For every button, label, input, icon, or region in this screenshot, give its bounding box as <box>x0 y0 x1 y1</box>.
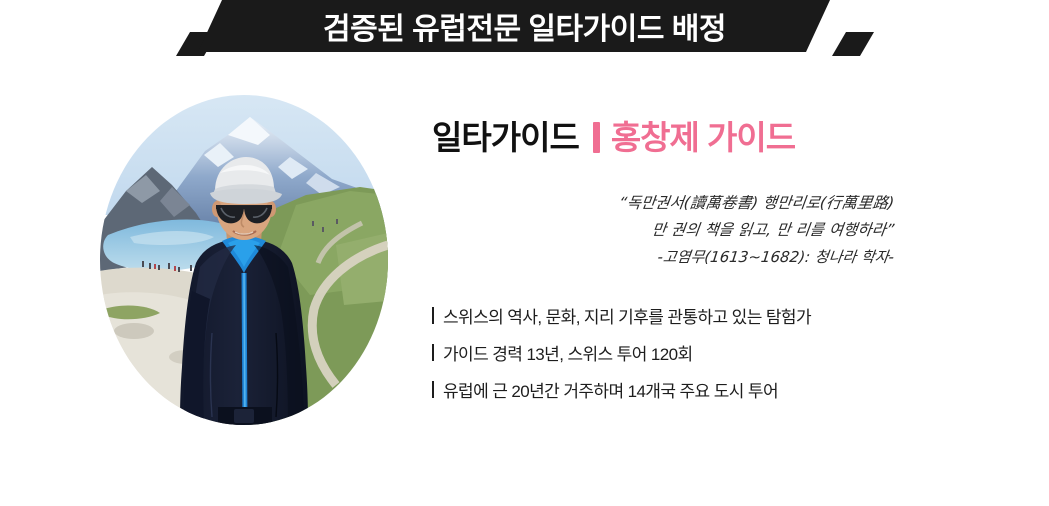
quote-line-2: 만 권의 책을 읽고, 만 리를 여행하라” <box>430 217 895 244</box>
headline-divider-bar <box>593 122 600 153</box>
credential-text: 스위스의 역사, 문화, 지리 기후를 관통하고 있는 탐험가 <box>443 303 811 328</box>
bullet-bar-icon <box>432 381 434 398</box>
guide-headline: 일타가이드 홍창제 가이드 <box>432 118 902 164</box>
list-item: 가이드 경력 13년, 스위스 투어 120회 <box>432 334 902 371</box>
guide-photo-illustration <box>100 95 388 425</box>
credential-text: 유럽에 근 20년간 거주하며 14개국 주요 도시 투어 <box>443 377 778 402</box>
list-item: 스위스의 역사, 문화, 지리 기후를 관통하고 있는 탐험가 <box>432 297 902 334</box>
quote-attribution: -고염무(1613~1682): 청나라 학자- <box>430 244 895 271</box>
quote-line-1: “독만권서(讀萬卷書) 행만리로(行萬里路) <box>430 190 895 217</box>
handwritten-quote: “독만권서(讀萬卷書) 행만리로(行萬里路) 만 권의 책을 읽고, 만 리를 … <box>432 190 902 271</box>
banner-title: 검증된 유럽전문 일타가이드 배정 <box>0 0 1049 52</box>
credential-text: 가이드 경력 13년, 스위스 투어 120회 <box>443 340 693 365</box>
guide-credentials-list: 스위스의 역사, 문화, 지리 기후를 관통하고 있는 탐험가 가이드 경력 1… <box>432 297 902 408</box>
promo-page: 검증된 유럽전문 일타가이드 배정 <box>0 0 1049 506</box>
guide-photo <box>100 95 388 425</box>
bullet-bar-icon <box>432 307 434 324</box>
list-item: 유럽에 근 20년간 거주하며 14개국 주요 도시 투어 <box>432 371 902 408</box>
guide-role-label: 일타가이드 <box>432 121 579 154</box>
banner: 검증된 유럽전문 일타가이드 배정 <box>0 0 1049 56</box>
guide-info: 일타가이드 홍창제 가이드 “독만권서(讀萬卷書) 행만리로(行萬里路) 만 권… <box>432 118 902 408</box>
guide-name: 홍창제 가이드 <box>611 121 795 154</box>
bullet-bar-icon <box>432 344 434 361</box>
